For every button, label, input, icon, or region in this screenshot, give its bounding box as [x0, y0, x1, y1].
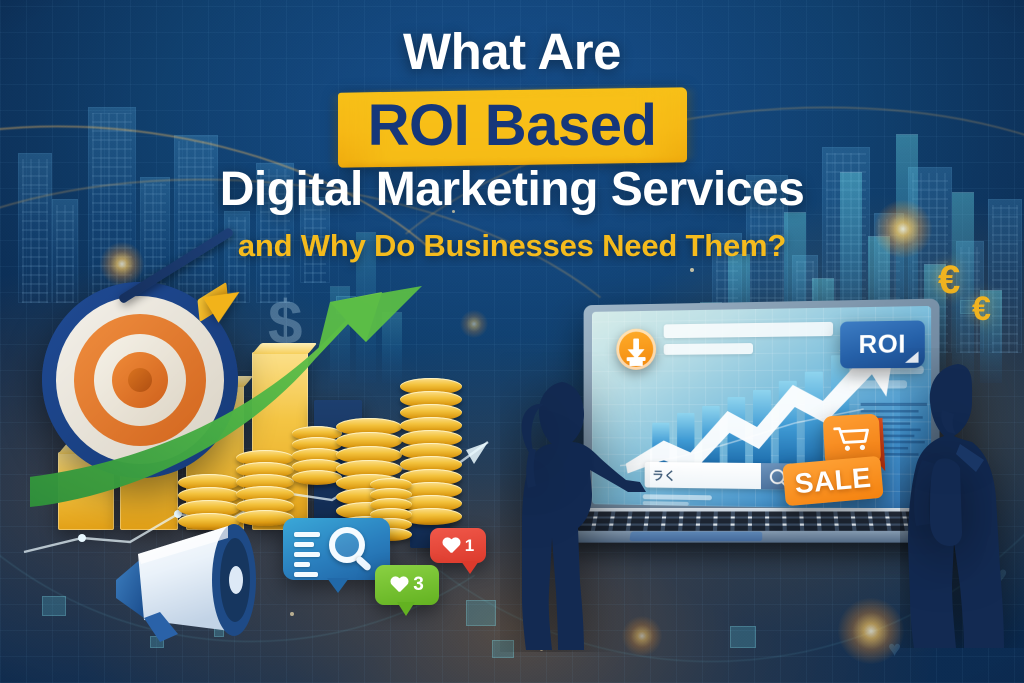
euro-sign-icon-1: € [938, 258, 960, 303]
like-count-red: 1 [465, 536, 474, 556]
sale-label: SALE [793, 462, 872, 501]
headline-subline: and Why Do Businesses Need Them? [0, 228, 1024, 264]
like-badge-red[interactable]: 1 [430, 528, 486, 563]
woman-silhouette-pointing [500, 352, 650, 652]
like-badge-green[interactable]: 3 [375, 565, 439, 605]
sale-tag[interactable]: SALE [782, 456, 883, 506]
man-silhouette-thinking [900, 348, 1024, 648]
heart-icon [442, 538, 460, 554]
euro-sign-icon-2: € [972, 290, 991, 329]
seo-lines-icon [294, 532, 320, 582]
heart-icon [390, 577, 408, 593]
headline-line-1: What Are [0, 22, 1024, 81]
roi-badge-label: ROI [859, 329, 906, 359]
headline-highlight-wrap: ROI Based [0, 88, 1024, 167]
highlight-brush-stroke: ROI Based [338, 88, 687, 167]
magnifier-icon [329, 527, 365, 563]
screen-search-bar[interactable]: ラく [645, 462, 793, 490]
search-input[interactable]: ラく [645, 466, 761, 484]
like-count-green: 3 [413, 574, 424, 596]
seo-search-bubble[interactable] [283, 518, 390, 580]
megaphone-icon [108, 516, 308, 646]
roi-marketing-banner: ♥ ♥ ♥ $ € € What Are ROI Based Digital M… [0, 0, 1024, 683]
headline-line-3: Digital Marketing Services [0, 162, 1024, 217]
shopping-cart-icon [833, 425, 870, 452]
headline-highlight-text: ROI Based [368, 93, 657, 158]
